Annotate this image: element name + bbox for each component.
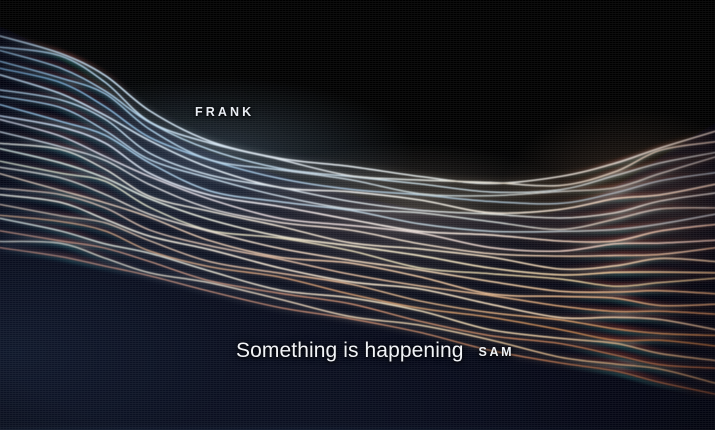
ribbon-svg <box>0 0 715 430</box>
subtitle-block: Something is happening SAM <box>236 339 514 363</box>
subtitle-line: Something is happening <box>236 339 464 363</box>
speaker-label-frank: FRANK <box>195 105 254 119</box>
speaker-label-sam: SAM <box>479 345 515 359</box>
abstract-filament-ribbon <box>0 0 715 430</box>
film-still-frame: FRANK Something is happening SAM <box>0 0 715 430</box>
